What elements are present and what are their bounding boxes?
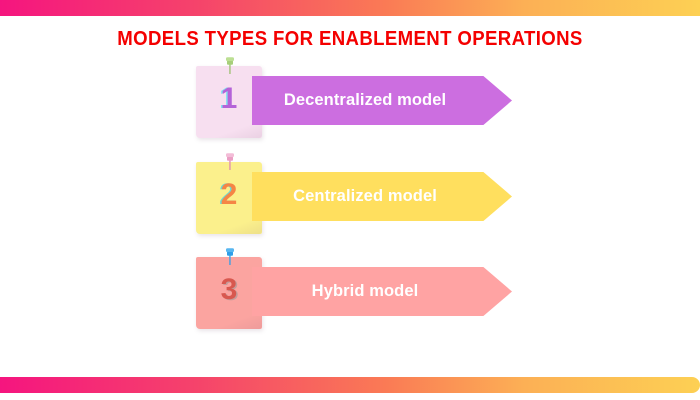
list-item: 2 Centralized model — [196, 158, 526, 248]
list-item: 3 Hybrid model — [196, 253, 526, 343]
page-title: MODELS TYPES FOR ENABLEMENT OPERATIONS — [25, 28, 676, 51]
item-banner[interactable]: Centralized model — [252, 172, 512, 221]
item-label: Hybrid model — [312, 282, 419, 301]
top-gradient-bar — [0, 0, 700, 16]
pushpin-icon — [223, 151, 237, 171]
list-item: 1 Decentralized model — [196, 62, 526, 152]
pushpin-icon — [223, 55, 237, 75]
item-label: Decentralized model — [284, 91, 446, 110]
pushpin-icon — [223, 246, 237, 266]
bottom-gradient-bar — [0, 377, 700, 393]
item-banner[interactable]: Hybrid model — [252, 267, 512, 316]
item-label: Centralized model — [293, 187, 437, 206]
item-banner[interactable]: Decentralized model — [252, 76, 512, 125]
